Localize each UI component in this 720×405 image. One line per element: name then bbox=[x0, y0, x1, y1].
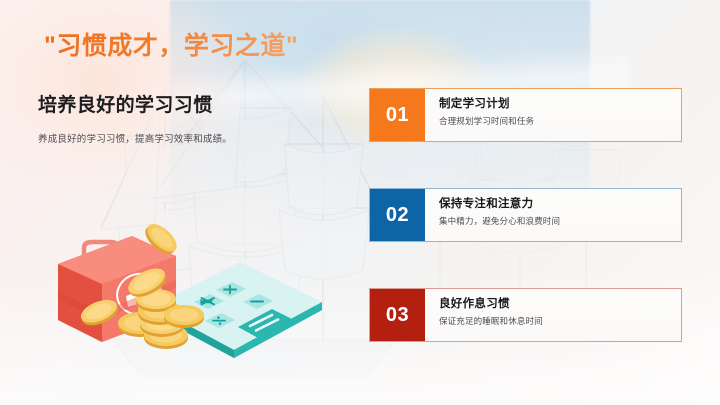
habit-card-description: 集中精力，避免分心和浪费时间 bbox=[439, 216, 681, 227]
study-illustration bbox=[44, 222, 326, 378]
habit-card-body: 制定学习计划 合理规划学习时间和任务 bbox=[425, 89, 681, 141]
habit-card-body: 良好作息习惯 保证充足的睡眠和休息时间 bbox=[425, 289, 681, 341]
habit-card-02[interactable]: 02 保持专注和注意力 集中精力，避免分心和浪费时间 bbox=[369, 188, 682, 242]
habit-card-body: 保持专注和注意力 集中精力，避免分心和浪费时间 bbox=[425, 189, 681, 241]
habit-card-01[interactable]: 01 制定学习计划 合理规划学习时间和任务 bbox=[369, 88, 682, 142]
habit-card-description: 保证充足的睡眠和休息时间 bbox=[439, 316, 681, 327]
section-subheading: 养成良好的学习习惯，提高学习效率和成绩。 bbox=[38, 131, 232, 145]
slide-title: "习惯成才，学习之道" bbox=[44, 26, 298, 62]
habit-card-title: 制定学习计划 bbox=[439, 97, 681, 111]
section-heading: 培养良好的学习习惯 bbox=[38, 90, 213, 117]
habit-card-number: 03 bbox=[370, 289, 425, 341]
habit-card-title: 良好作息习惯 bbox=[439, 297, 681, 311]
habit-card-03[interactable]: 03 良好作息习惯 保证充足的睡眠和休息时间 bbox=[369, 288, 682, 342]
habit-card-number: 02 bbox=[370, 189, 425, 241]
slide-root: "习惯成才，学习之道" 培养良好的学习习惯 养成良好的学习习惯，提高学习效率和成… bbox=[0, 0, 720, 405]
habit-card-title: 保持专注和注意力 bbox=[439, 197, 681, 211]
habit-card-number: 01 bbox=[370, 89, 425, 141]
habit-card-description: 合理规划学习时间和任务 bbox=[439, 116, 681, 127]
